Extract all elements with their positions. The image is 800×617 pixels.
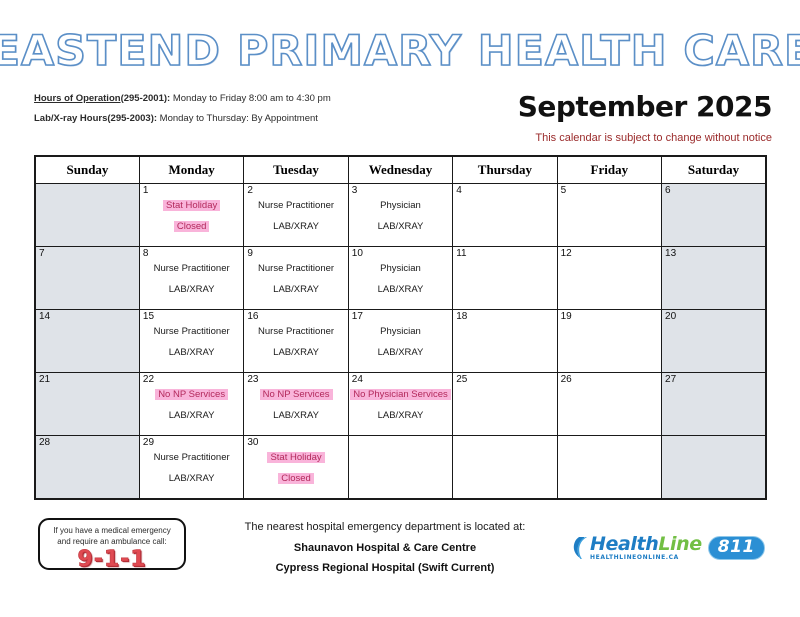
day-number: 16 [247, 311, 258, 323]
day-events: Nurse PractitionerLAB/XRAY [244, 184, 347, 233]
day-event-line: LAB/XRAY [349, 284, 452, 296]
lab-xray-hours-line: Lab/X-ray Hours(295-2003): Monday to Thu… [34, 113, 454, 124]
day-event-line: Nurse Practitioner [244, 326, 347, 338]
emergency-number: 9-1-1 [40, 548, 184, 572]
day-number: 20 [665, 311, 676, 323]
day-event-text: Nurse Practitioner [154, 326, 230, 337]
day-event-line: Nurse Practitioner [140, 326, 243, 338]
day-number: 17 [352, 311, 363, 323]
calendar-day-cell[interactable]: 10PhysicianLAB/XRAY [348, 247, 452, 310]
day-event-line: LAB/XRAY [244, 221, 347, 233]
day-number: 9 [247, 248, 253, 260]
day-event-line: LAB/XRAY [349, 221, 452, 233]
day-number: 14 [39, 311, 50, 323]
calendar-container: SundayMondayTuesdayWednesdayThursdayFrid… [34, 155, 767, 500]
lab-xray-hours-phone: (295-2003): [107, 113, 157, 124]
day-event-highlighted: Closed [278, 473, 314, 484]
day-event-line: LAB/XRAY [140, 410, 243, 422]
day-event-line: LAB/XRAY [140, 284, 243, 296]
day-number: 30 [247, 437, 258, 449]
calendar-day-cell[interactable]: 4 [453, 184, 557, 247]
phone-handset-icon [572, 537, 589, 559]
day-event-text: LAB/XRAY [378, 410, 424, 421]
day-number: 22 [143, 374, 154, 386]
day-number: 23 [247, 374, 258, 386]
change-notice: This calendar is subject to change witho… [518, 132, 772, 145]
calendar-day-cell[interactable]: 1Stat HolidayClosed [139, 184, 243, 247]
day-event-line: No Physician Services [349, 389, 452, 401]
day-number: 24 [352, 374, 363, 386]
day-events: No NP ServicesLAB/XRAY [244, 373, 347, 422]
day-event-line: LAB/XRAY [349, 347, 452, 359]
day-event-text: LAB/XRAY [378, 221, 424, 232]
calendar-day-cell[interactable]: 17PhysicianLAB/XRAY [348, 310, 452, 373]
calendar-day-cell[interactable]: 2Nurse PractitionerLAB/XRAY [244, 184, 348, 247]
day-event-text: Physician [380, 200, 421, 211]
day-event-line: Physician [349, 263, 452, 275]
healthline-logo: HealthLine HEALTHLINEONLINE.CA 811 [572, 531, 777, 565]
day-number: 15 [143, 311, 154, 323]
day-number: 19 [561, 311, 572, 323]
calendar-header-tuesday: Tuesday [244, 156, 348, 184]
calendar-week-row: 1415Nurse PractitionerLAB/XRAY16Nurse Pr… [35, 310, 766, 373]
day-events: Nurse PractitionerLAB/XRAY [244, 310, 347, 359]
day-events [558, 373, 661, 389]
calendar-day-cell[interactable]: 30Stat HolidayClosed [244, 436, 348, 500]
day-number: 7 [39, 248, 45, 260]
site-title-banner: EASTEND PRIMARY HEALTH CARE SITE [0, 28, 800, 74]
calendar-header-row-group: SundayMondayTuesdayWednesdayThursdayFrid… [35, 156, 766, 184]
day-number: 29 [143, 437, 154, 449]
day-event-highlighted: No Physician Services [350, 389, 451, 400]
calendar-day-cell[interactable]: 7 [35, 247, 139, 310]
day-event-highlighted: No NP Services [155, 389, 228, 400]
month-title: September 2025 [518, 92, 772, 122]
day-number: 13 [665, 248, 676, 260]
day-events [558, 247, 661, 263]
hours-of-operation-value: Monday to Friday 8:00 am to 4:30 pm [173, 93, 331, 104]
day-event-text: Physician [380, 263, 421, 274]
lab-xray-hours-value: Monday to Thursday: By Appointment [160, 113, 318, 124]
calendar-day-cell[interactable]: 20 [662, 310, 766, 373]
hospital-name-1: Shaunavon Hospital & Care Centre [205, 541, 565, 555]
calendar-week-row: 2829Nurse PractitionerLAB/XRAY30Stat Hol… [35, 436, 766, 500]
emergency-line-2: and require an ambulance call: [40, 536, 184, 547]
hospital-intro-text: The nearest hospital emergency departmen… [205, 520, 565, 534]
day-number: 11 [456, 248, 466, 260]
calendar-header-monday: Monday [139, 156, 243, 184]
day-events: Nurse PractitionerLAB/XRAY [244, 247, 347, 296]
day-events: Nurse PractitionerLAB/XRAY [140, 436, 243, 485]
healthline-wordmark-group: HealthLine HEALTHLINEONLINE.CA [590, 534, 702, 562]
day-event-highlighted: No NP Services [260, 389, 333, 400]
day-event-highlighted: Stat Holiday [163, 200, 220, 211]
day-events: PhysicianLAB/XRAY [349, 310, 452, 359]
calendar-day-cell[interactable]: 9Nurse PractitionerLAB/XRAY [244, 247, 348, 310]
day-event-line: Stat Holiday [140, 200, 243, 212]
day-events [453, 247, 556, 263]
day-event-line: LAB/XRAY [349, 410, 452, 422]
day-event-text: Nurse Practitioner [258, 263, 334, 274]
calendar-day-cell[interactable]: 29Nurse PractitionerLAB/XRAY [139, 436, 243, 500]
day-events [662, 247, 765, 263]
day-events [453, 184, 556, 200]
day-event-text: LAB/XRAY [378, 347, 424, 358]
month-heading-block: September 2025 This calendar is subject … [518, 92, 772, 145]
calendar-day-cell[interactable]: 21 [35, 373, 139, 436]
calendar-day-cell[interactable]: 3PhysicianLAB/XRAY [348, 184, 452, 247]
nearest-hospital-block: The nearest hospital emergency departmen… [205, 520, 565, 581]
day-event-line: Stat Holiday [244, 452, 347, 464]
day-events [453, 310, 556, 326]
calendar-day-cell[interactable]: 22No NP ServicesLAB/XRAY [139, 373, 243, 436]
day-events: PhysicianLAB/XRAY [349, 247, 452, 296]
day-event-highlighted: Stat Holiday [267, 452, 324, 463]
calendar-header-saturday: Saturday [662, 156, 766, 184]
day-number: 8 [143, 248, 149, 260]
healthline-word-health: Health [590, 533, 658, 555]
day-event-text: LAB/XRAY [273, 410, 319, 421]
day-event-text: Nurse Practitioner [258, 326, 334, 337]
calendar-week-row: 78Nurse PractitionerLAB/XRAY9Nurse Pract… [35, 247, 766, 310]
day-events [36, 310, 139, 326]
day-events: No NP ServicesLAB/XRAY [140, 373, 243, 422]
healthline-url: HEALTHLINEONLINE.CA [590, 554, 702, 562]
calendar-day-cell[interactable]: 19 [557, 310, 661, 373]
day-events [662, 373, 765, 389]
calendar-day-cell[interactable]: 14 [35, 310, 139, 373]
healthline-811-badge: 811 [708, 536, 765, 560]
day-event-text: LAB/XRAY [273, 221, 319, 232]
calendar-week-row: 2122No NP ServicesLAB/XRAY23No NP Servic… [35, 373, 766, 436]
day-event-line: LAB/XRAY [140, 347, 243, 359]
emergency-call-box: If you have a medical emergency and requ… [38, 518, 186, 570]
calendar-day-cell[interactable]: 8Nurse PractitionerLAB/XRAY [139, 247, 243, 310]
calendar-day-cell[interactable]: 24No Physician ServicesLAB/XRAY [348, 373, 452, 436]
day-events: Stat HolidayClosed [244, 436, 347, 485]
calendar-day-cell[interactable]: 12 [557, 247, 661, 310]
calendar-day-cell[interactable] [557, 436, 661, 500]
day-events: Nurse PractitionerLAB/XRAY [140, 247, 243, 296]
calendar-day-cell[interactable] [35, 184, 139, 247]
day-events [558, 184, 661, 200]
calendar-table: SundayMondayTuesdayWednesdayThursdayFrid… [34, 155, 767, 500]
hours-of-operation-label: Hours of Operation [34, 93, 121, 104]
page-title: EASTEND PRIMARY HEALTH CARE SITE [0, 28, 800, 74]
hours-of-operation-phone: (295-2001): [121, 93, 171, 104]
day-events [349, 436, 452, 452]
day-events [36, 373, 139, 389]
calendar-day-cell[interactable]: 26 [557, 373, 661, 436]
calendar-header-sunday: Sunday [35, 156, 139, 184]
day-event-line: Nurse Practitioner [140, 452, 243, 464]
calendar-day-cell[interactable]: 28 [35, 436, 139, 500]
calendar-day-cell[interactable]: 13 [662, 247, 766, 310]
day-number: 21 [39, 374, 50, 386]
day-number: 12 [561, 248, 572, 260]
calendar-body: 1Stat HolidayClosed2Nurse PractitionerLA… [35, 184, 766, 500]
day-number: 1 [143, 185, 149, 197]
day-events: Stat HolidayClosed [140, 184, 243, 233]
day-events [36, 247, 139, 263]
calendar-day-cell[interactable]: 5 [557, 184, 661, 247]
day-events [662, 436, 765, 452]
day-event-text: LAB/XRAY [169, 473, 215, 484]
calendar-day-cell[interactable]: 18 [453, 310, 557, 373]
day-events [36, 436, 139, 452]
calendar-header-friday: Friday [557, 156, 661, 184]
calendar-week-row: 1Stat HolidayClosed2Nurse PractitionerLA… [35, 184, 766, 247]
day-event-line: Closed [140, 221, 243, 233]
day-number: 3 [352, 185, 358, 197]
calendar-day-cell[interactable] [453, 436, 557, 500]
day-event-line: LAB/XRAY [140, 473, 243, 485]
day-number: 18 [456, 311, 467, 323]
day-event-text: LAB/XRAY [169, 347, 215, 358]
calendar-day-cell[interactable] [662, 436, 766, 500]
calendar-day-cell[interactable]: 27 [662, 373, 766, 436]
hours-of-operation-line: Hours of Operation(295-2001): Monday to … [34, 93, 454, 104]
day-event-line: Nurse Practitioner [140, 263, 243, 275]
lab-xray-hours-label: Lab/X-ray Hours [34, 113, 107, 124]
day-event-line: No NP Services [244, 389, 347, 401]
day-number: 10 [352, 248, 363, 260]
day-event-line: Nurse Practitioner [244, 200, 347, 212]
day-event-text: LAB/XRAY [169, 410, 215, 421]
day-event-text: Nurse Practitioner [258, 200, 334, 211]
day-number: 4 [456, 185, 462, 197]
day-events [36, 184, 139, 200]
calendar-header-wednesday: Wednesday [348, 156, 452, 184]
calendar-day-cell[interactable]: 16Nurse PractitionerLAB/XRAY [244, 310, 348, 373]
day-event-line: LAB/XRAY [244, 347, 347, 359]
day-events [662, 184, 765, 200]
calendar-header-row: SundayMondayTuesdayWednesdayThursdayFrid… [35, 156, 766, 184]
day-number: 5 [561, 185, 567, 197]
calendar-day-cell[interactable]: 6 [662, 184, 766, 247]
day-events [453, 436, 556, 452]
day-events [662, 310, 765, 326]
day-event-text: LAB/XRAY [169, 284, 215, 295]
calendar-header-thursday: Thursday [453, 156, 557, 184]
emergency-line-1: If you have a medical emergency [40, 525, 184, 536]
day-event-text: Physician [380, 326, 421, 337]
day-events: Nurse PractitionerLAB/XRAY [140, 310, 243, 359]
day-event-line: LAB/XRAY [244, 284, 347, 296]
day-events [558, 310, 661, 326]
day-event-line: Closed [244, 473, 347, 485]
day-event-text: Nurse Practitioner [154, 452, 230, 463]
hours-of-operation-block: Hours of Operation(295-2001): Monday to … [34, 93, 454, 133]
calendar-day-cell[interactable] [348, 436, 452, 500]
day-event-text: Nurse Practitioner [154, 263, 230, 274]
healthline-wordmark: HealthLine [590, 534, 702, 554]
day-number: 28 [39, 437, 50, 449]
calendar-day-cell[interactable]: 15Nurse PractitionerLAB/XRAY [139, 310, 243, 373]
day-event-highlighted: Closed [174, 221, 210, 232]
day-events: PhysicianLAB/XRAY [349, 184, 452, 233]
day-event-line: Physician [349, 200, 452, 212]
day-event-text: LAB/XRAY [273, 284, 319, 295]
day-events [453, 373, 556, 389]
day-number: 6 [665, 185, 671, 197]
day-event-line: Nurse Practitioner [244, 263, 347, 275]
calendar-day-cell[interactable]: 23No NP ServicesLAB/XRAY [244, 373, 348, 436]
healthline-word-line: Line [658, 533, 701, 555]
day-number: 25 [456, 374, 467, 386]
day-events: No Physician ServicesLAB/XRAY [349, 373, 452, 422]
day-event-line: No NP Services [140, 389, 243, 401]
day-event-text: LAB/XRAY [273, 347, 319, 358]
day-number: 2 [247, 185, 253, 197]
day-event-line: Physician [349, 326, 452, 338]
day-number: 26 [561, 374, 572, 386]
day-event-line: LAB/XRAY [244, 410, 347, 422]
calendar-day-cell[interactable]: 25 [453, 373, 557, 436]
calendar-day-cell[interactable]: 11 [453, 247, 557, 310]
day-number: 27 [665, 374, 676, 386]
day-events [558, 436, 661, 452]
day-event-text: LAB/XRAY [378, 284, 424, 295]
hospital-name-2: Cypress Regional Hospital (Swift Current… [205, 561, 565, 575]
